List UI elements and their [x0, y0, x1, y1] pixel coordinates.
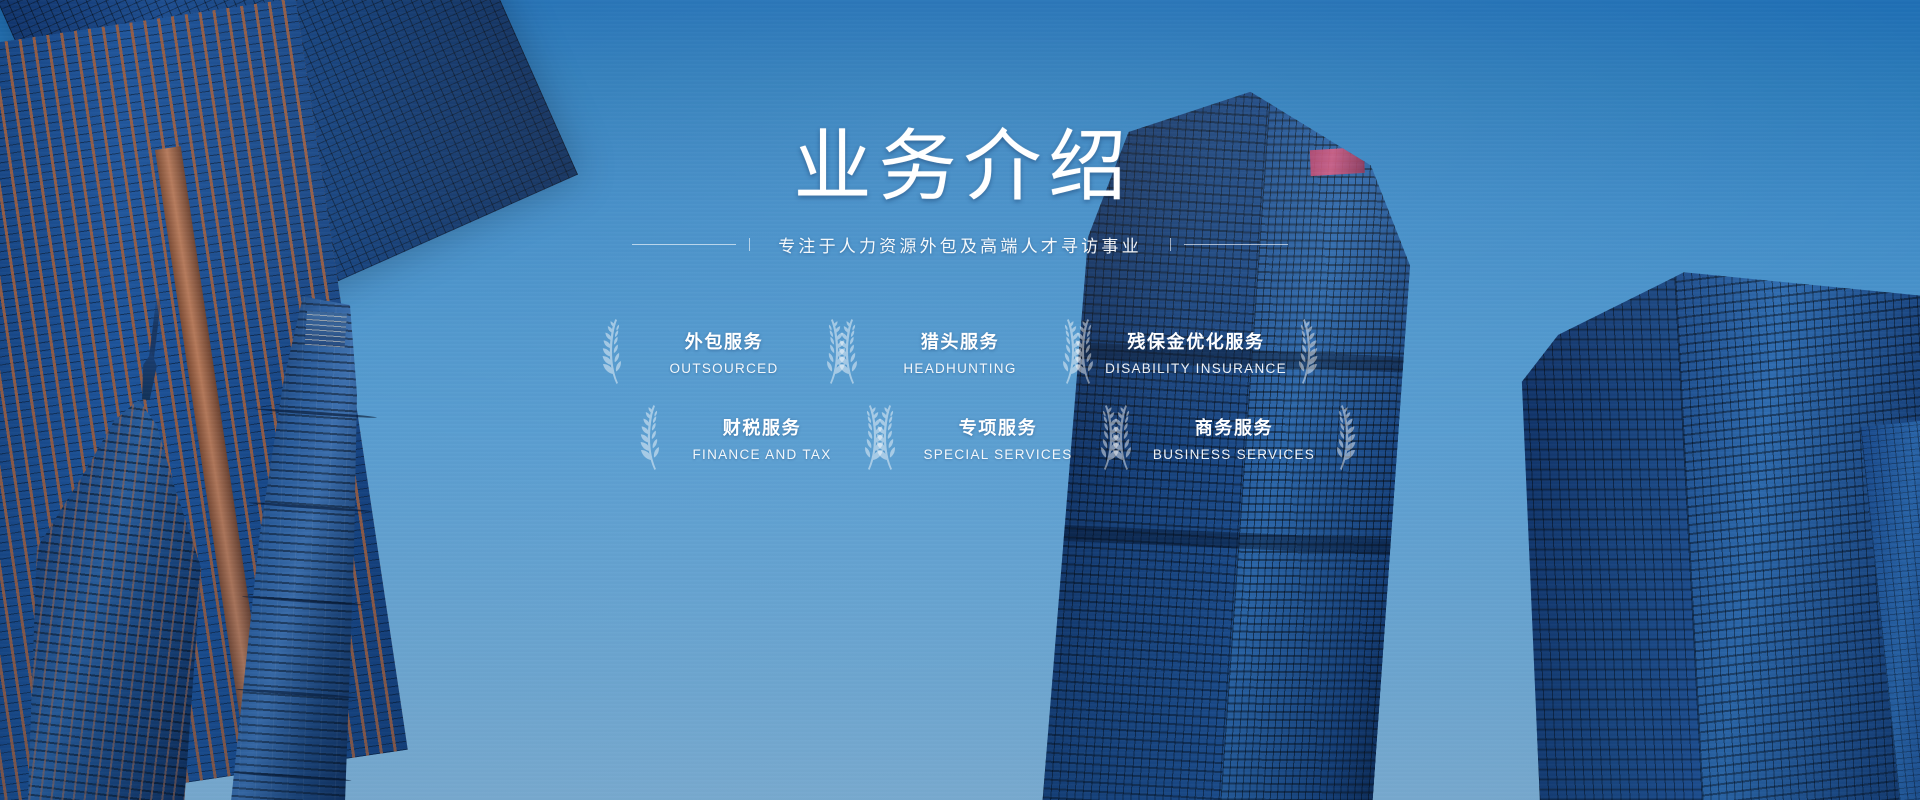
laurel-branch-icon [600, 318, 630, 386]
horizontal-rule-left-icon [632, 244, 736, 245]
business-intro-banner: 业务介绍 专注于人力资源外包及高端人才寻访事业 [0, 0, 1920, 800]
service-name-cn: 残保金优化服务 [1127, 328, 1264, 354]
service-item-outsourced[interactable]: 外包服务 OUTSOURCED [606, 309, 842, 395]
services-grid: 外包服务 OUTSOURCED [606, 309, 1314, 481]
service-name-cn: 财税服务 [723, 414, 801, 440]
laurel-branch-icon [638, 404, 668, 472]
service-item-special-services[interactable]: 专项服务 SPECIAL SERVICES [880, 395, 1116, 481]
service-name-en: FINANCE AND TAX [692, 447, 831, 462]
subtitle-row: 专注于人力资源外包及高端人才寻访事业 [632, 232, 1288, 257]
service-item-business-services[interactable]: 商务服务 BUSINESS SERVICES [1116, 395, 1352, 481]
banner-content: 业务介绍 专注于人力资源外包及高端人才寻访事业 [0, 0, 1920, 800]
horizontal-rule-right-icon [1184, 244, 1288, 245]
service-name-cn: 猎头服务 [921, 328, 999, 354]
service-name-en: DISABILITY INSURANCE [1105, 361, 1287, 376]
service-name-cn: 外包服务 [685, 328, 763, 354]
laurel-branch-icon [836, 318, 866, 386]
service-name-en: OUTSOURCED [669, 361, 778, 376]
service-item-finance-and-tax[interactable]: 财税服务 FINANCE AND TAX [644, 395, 880, 481]
page-title: 业务介绍 [786, 128, 1133, 206]
laurel-branch-icon [1072, 318, 1102, 386]
page-subtitle: 专注于人力资源外包及高端人才寻访事业 [778, 232, 1142, 257]
service-name-en: BUSINESS SERVICES [1153, 447, 1315, 462]
service-name-cn: 专项服务 [959, 414, 1037, 440]
service-name-en: HEADHUNTING [903, 361, 1016, 376]
laurel-branch-icon [1290, 318, 1320, 386]
laurel-branch-icon [874, 404, 904, 472]
laurel-branch-icon [1328, 404, 1358, 472]
service-item-headhunting[interactable]: 猎头服务 HEADHUNTING [842, 309, 1078, 395]
service-name-en: SPECIAL SERVICES [923, 447, 1072, 462]
service-item-disability-insurance[interactable]: 残保金优化服务 DISABILITY INSURANCE [1078, 309, 1314, 395]
service-name-cn: 商务服务 [1195, 414, 1273, 440]
laurel-branch-icon [1110, 404, 1140, 472]
